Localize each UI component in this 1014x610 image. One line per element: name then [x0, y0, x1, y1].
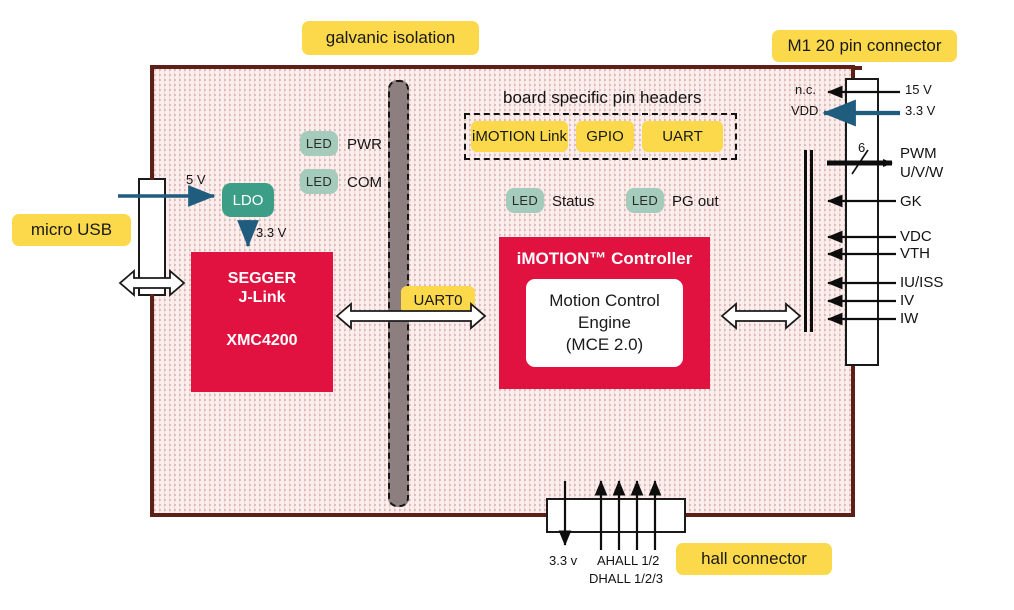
segger-line1: SEGGER: [228, 270, 296, 287]
internal-bus-bars: [804, 150, 813, 332]
m1-right-label-3v3: 3.3 V: [905, 103, 935, 118]
led-badge-pg-out-text: LED: [632, 193, 658, 208]
callout-galvanic-isolation-label: galvanic isolation: [326, 28, 455, 48]
callout-micro-usb: micro USB: [12, 214, 131, 246]
led-label-status: Status: [552, 193, 595, 210]
led-badge-status-text: LED: [512, 193, 538, 208]
pin-header-imotion-link-label: iMOTION Link: [472, 128, 567, 145]
m1-signal-vth: VTH: [900, 245, 930, 262]
uart0-label: UART0: [414, 292, 463, 309]
m1-signal-iu-iss: IU/ISS: [900, 274, 943, 291]
callout-micro-usb-label: micro USB: [31, 220, 112, 240]
ldo-3v3-label: 3.3 V: [256, 225, 286, 240]
pin-header-gpio-label: GPIO: [586, 128, 624, 145]
m1-signal-pwm: PWM: [900, 145, 937, 162]
pin-header-uart[interactable]: UART: [642, 121, 723, 152]
led-label-pwr: PWR: [347, 136, 382, 153]
callout-hall-connector-label: hall connector: [701, 549, 807, 569]
callout-galvanic-isolation: galvanic isolation: [302, 21, 479, 55]
motion-control-engine-block: Motion Control Engine (MCE 2.0): [526, 279, 683, 367]
m1-left-label-nc: n.c.: [795, 82, 816, 97]
mce-line1: Motion Control: [549, 291, 660, 310]
hall-ahall-label: AHALL 1/2: [597, 553, 659, 568]
callout-m1-connector-label: M1 20 pin connector: [787, 36, 941, 56]
m1-signal-iv: IV: [900, 292, 914, 309]
led-label-com: COM: [347, 174, 382, 191]
led-badge-status: LED: [506, 188, 544, 213]
micro-usb-connector: [138, 178, 166, 296]
segger-part-number: XMC4200: [226, 332, 297, 349]
m1-bus-width-6: 6: [858, 140, 865, 155]
led-badge-pwr-text: LED: [306, 136, 332, 151]
m1-left-label-vdd: VDD: [791, 103, 818, 118]
pin-header-uart-label: UART: [662, 128, 703, 145]
mce-line3: (MCE 2.0): [566, 335, 643, 354]
m1-connector-body: [845, 78, 879, 366]
led-badge-com: LED: [300, 169, 338, 194]
imotion-controller-title: iMOTION™ Controller: [517, 249, 693, 268]
m1-signal-vdc: VDC: [900, 228, 932, 245]
m1-signal-iw: IW: [900, 310, 918, 327]
led-badge-pwr: LED: [300, 131, 338, 156]
callout-hall-connector: hall connector: [676, 543, 832, 575]
pin-headers-title: board specific pin headers: [503, 88, 701, 108]
diagram-canvas: galvanic isolation M1 20 pin connector m…: [0, 0, 1014, 610]
ldo-block: LDO: [222, 183, 274, 217]
m1-signal-gk: GK: [900, 193, 922, 210]
led-label-pg-out: PG out: [672, 193, 719, 210]
pin-header-gpio[interactable]: GPIO: [576, 121, 634, 152]
m1-right-label-15v: 15 V: [905, 82, 932, 97]
ldo-label: LDO: [233, 192, 264, 209]
segger-line2: J-Link: [238, 289, 285, 306]
uart0-bus-label: UART0: [401, 286, 475, 314]
callout-m1-connector: M1 20 pin connector: [772, 30, 957, 62]
led-badge-pg-out: LED: [626, 188, 664, 213]
m1-signal-pwm-phases: U/V/W: [900, 164, 943, 181]
hall-dhall-label: DHALL 1/2/3: [589, 571, 663, 586]
hall-supply-label: 3.3 v: [549, 553, 577, 568]
mce-line2: Engine: [578, 313, 631, 332]
hall-connector-body: [546, 498, 686, 533]
led-badge-com-text: LED: [306, 174, 332, 189]
pin-header-imotion-link[interactable]: iMOTION Link: [471, 121, 568, 152]
segger-jlink-block: SEGGER J-Link XMC4200: [191, 252, 333, 392]
usb-5v-label: 5 V: [186, 172, 206, 187]
